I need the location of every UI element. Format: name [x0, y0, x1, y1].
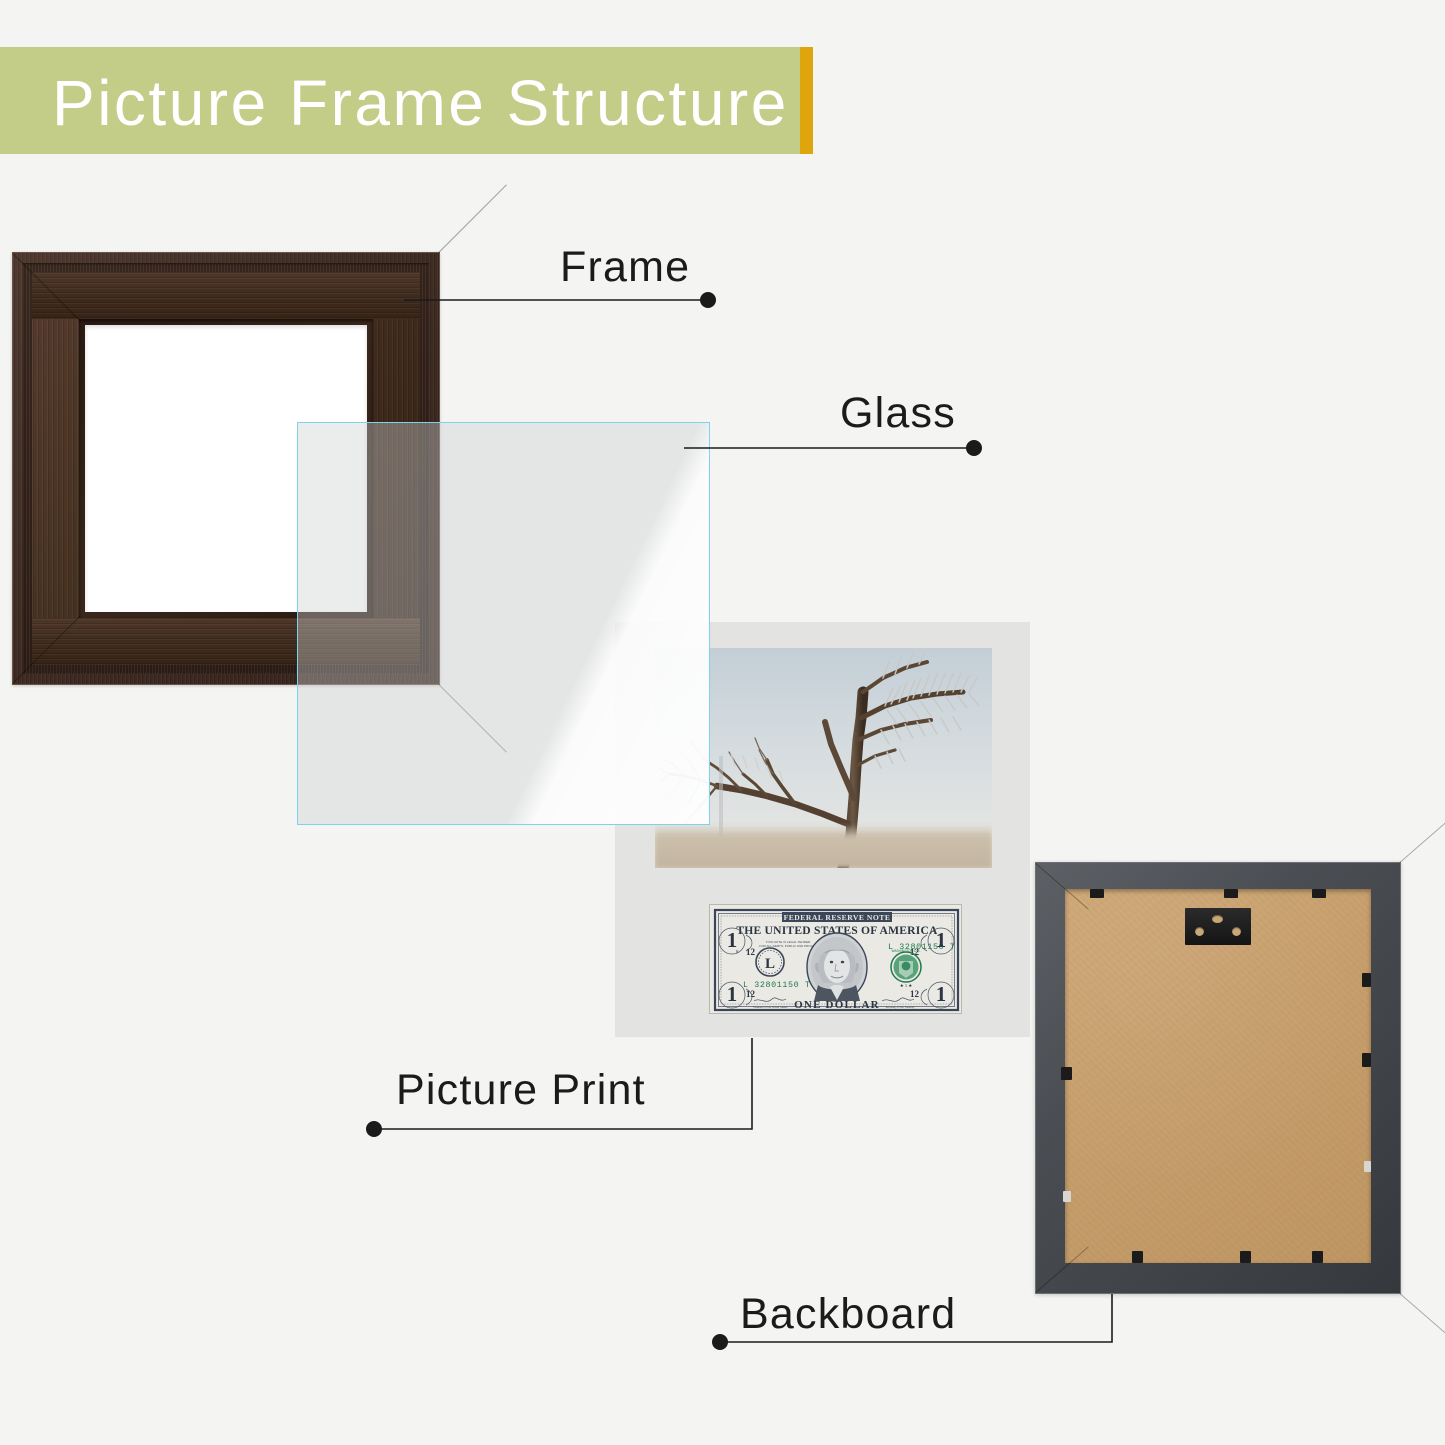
frame-rail-top [32, 272, 420, 319]
svg-text:WASHINGTON,D.C.: WASHINGTON,D.C. [891, 949, 920, 953]
svg-text:Treasurer of the United States: Treasurer of the United States [753, 1005, 788, 1009]
infographic-canvas: Picture Frame Structure [0, 0, 1445, 1445]
page-title: Picture Frame Structure [52, 58, 792, 148]
backboard-clip [1364, 1161, 1371, 1172]
title-accent-bar [800, 47, 813, 154]
svg-text:★ 1 ★: ★ 1 ★ [900, 983, 914, 988]
callout-label-glass: Glass [840, 389, 956, 438]
backboard-component [1035, 862, 1401, 1294]
svg-text:ONE DOLLAR: ONE DOLLAR [794, 999, 880, 1011]
svg-text:1: 1 [727, 982, 738, 1006]
backboard-miter-bottom-right [1399, 1293, 1445, 1340]
backboard-clip [1063, 1191, 1071, 1202]
callout-label-picture-print: Picture Print [396, 1066, 646, 1115]
backboard-miter-top-left [1035, 863, 1088, 910]
backboard-clip [1224, 889, 1238, 898]
sawtooth-hanger-icon [1185, 908, 1251, 945]
backboard-panel [1065, 889, 1371, 1263]
svg-text:12: 12 [746, 947, 756, 957]
backboard-clip [1362, 973, 1371, 987]
hanger-hole-left [1195, 927, 1204, 936]
svg-text:L: L [765, 956, 775, 972]
backboard-clip [1240, 1251, 1251, 1263]
frame-miter-top-right [438, 184, 507, 253]
backboard-clip [1312, 889, 1326, 898]
glass-component [297, 422, 710, 825]
hanger-hole-center [1212, 915, 1223, 923]
callout-label-frame: Frame [560, 243, 690, 292]
svg-text:1: 1 [936, 928, 947, 952]
svg-text:Secretary of the Treasury: Secretary of the Treasury [885, 1005, 915, 1009]
glass-reflection-sheen [434, 422, 710, 825]
svg-text:FEDERAL RESERVE NOTE: FEDERAL RESERVE NOTE [784, 913, 891, 922]
svg-text:12: 12 [910, 989, 920, 999]
backboard-miter-top-right [1399, 816, 1445, 863]
backboard-clip [1312, 1251, 1323, 1263]
photo-ground [655, 824, 992, 868]
svg-text:12: 12 [746, 989, 756, 999]
backboard-clip [1061, 1067, 1072, 1080]
svg-text:1: 1 [727, 928, 738, 952]
callout-label-backboard: Backboard [740, 1290, 956, 1339]
backboard-clip [1090, 889, 1104, 898]
backboard-clip [1362, 1053, 1371, 1067]
hanger-hole-right [1232, 927, 1241, 936]
dollar-bill-scale-reference: FEDERAL RESERVE NOTE THE UNITED STATES O… [709, 904, 962, 1014]
svg-text:1: 1 [936, 982, 947, 1006]
